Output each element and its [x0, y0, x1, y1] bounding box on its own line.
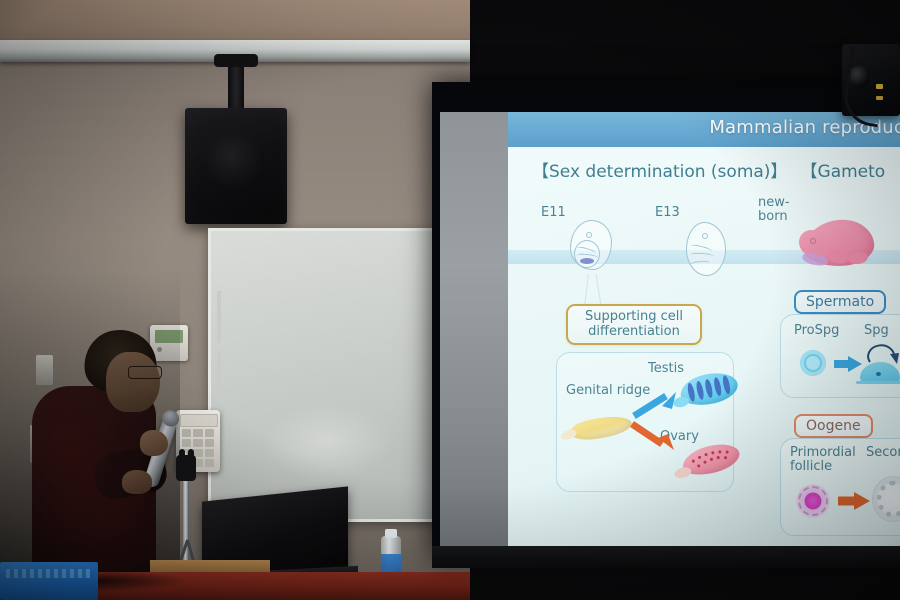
- tag-oogenesis: Oogene: [794, 414, 873, 438]
- glasses-icon: [128, 366, 162, 379]
- lecture-room-photo: Mammalian reproduc 【Sex determination (s…: [0, 0, 900, 600]
- blue-storage-crate: [0, 562, 98, 600]
- prospermatogonium-illustration: [800, 350, 826, 376]
- label-spg: Spg: [864, 324, 889, 338]
- embryo-e13: [686, 222, 728, 278]
- bottle-cap: [385, 529, 397, 538]
- stage-label-newborn: new- born: [758, 196, 790, 224]
- presenter-face: [106, 352, 160, 412]
- tag-spermatogenesis: Spermato: [794, 290, 886, 314]
- label-prospg: ProSpg: [794, 324, 839, 338]
- arrow-spermatogenesis: [834, 354, 864, 374]
- pup-eye-icon: [810, 238, 816, 244]
- basement-membrane: [856, 381, 900, 384]
- arrow-oogenesis: [838, 490, 872, 512]
- newborn-pup: [804, 220, 880, 274]
- embryo-eye-icon: [702, 233, 708, 239]
- arrow-to-ovary: [630, 420, 678, 452]
- whiteboard-glare: [263, 404, 392, 479]
- callout-tether: [596, 274, 602, 306]
- label-secondary-follicle: Secon: [866, 446, 900, 460]
- stage-label-e13: E13: [655, 206, 680, 220]
- ceiling-strip: [0, 0, 470, 44]
- whiteboard-edge-mark: [217, 291, 221, 343]
- microphone-clip[interactable]: [176, 455, 196, 481]
- slide-section-headings: 【Sex determination (soma)】 【Gameto: [508, 157, 900, 185]
- section-heading-sex-determination: 【Sex determination (soma)】: [532, 157, 787, 182]
- section-heading-gametogenesis: 【Gameto: [801, 157, 886, 182]
- projection-screen-bottom-bar: [432, 546, 900, 568]
- stage-label-e11: E11: [541, 206, 566, 220]
- embryo-e11: [570, 220, 614, 276]
- phone-handset: [180, 414, 218, 427]
- speaker-bracket: [228, 58, 244, 110]
- gonad-primordium: [580, 258, 594, 264]
- whiteboard-edge-mark-2: [217, 351, 221, 403]
- presentation-slide: Mammalian reproduc 【Sex determination (s…: [508, 112, 900, 550]
- ceiling-speaker: [185, 108, 287, 224]
- primordial-follicle-illustration: [796, 484, 830, 518]
- slide-header-band: Mammalian reproduc: [508, 112, 900, 147]
- embryo-eye-icon: [586, 232, 592, 238]
- callout-tether: [584, 274, 589, 306]
- whiteboard: [208, 228, 448, 522]
- projection-screen: Mammalian reproduc 【Sex determination (s…: [440, 112, 900, 550]
- speaker-cone-icon: [207, 134, 265, 192]
- supporting-cell-callout: Supporting cell differentiation: [566, 304, 702, 345]
- presenter-hand-on-mic: [140, 430, 168, 456]
- label-testis: Testis: [648, 362, 684, 376]
- presenter-hand-lower: [122, 470, 152, 494]
- label-primordial-follicle: Primordial follicle: [790, 446, 856, 475]
- screen-unused-margin: [440, 112, 508, 550]
